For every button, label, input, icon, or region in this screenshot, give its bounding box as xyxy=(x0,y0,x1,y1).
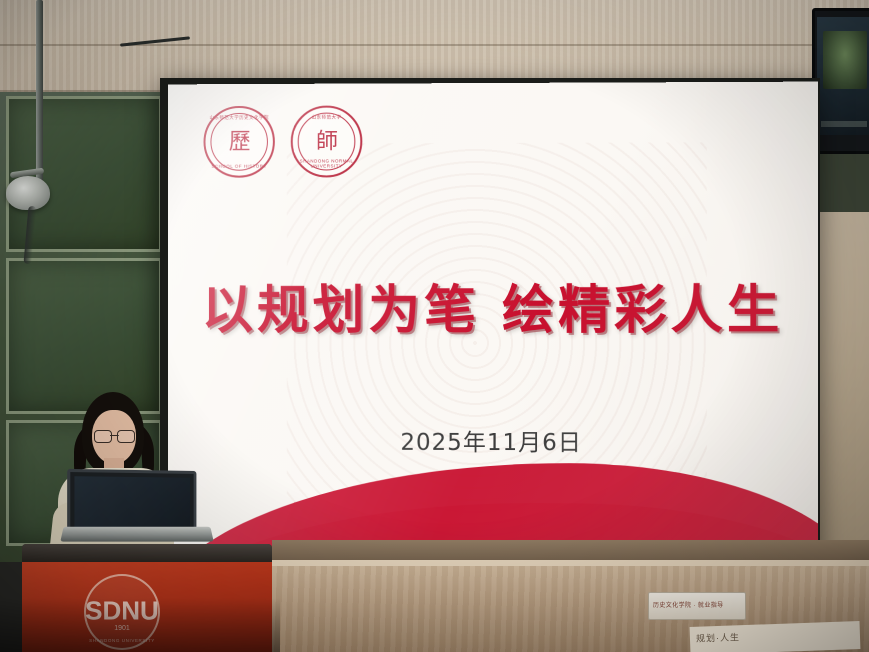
presenter-laptop[interactable] xyxy=(62,470,220,550)
desk-name-plate-text: 历史文化学院 · 就业指导 xyxy=(653,600,724,609)
desk-paper: 规划·人生 xyxy=(690,621,861,652)
history-emblem-core: 歷 xyxy=(229,131,250,153)
university-emblem-icon: 山东师范大学 師 SHANDONG NORMAL UNIVERSITY xyxy=(291,106,363,178)
wall-monitor[interactable] xyxy=(812,8,869,154)
history-emblem-ring-bottom: SCHOOL OF HISTORY xyxy=(205,164,272,169)
slide-emblem-group: 山东师范大学历史文化学院 歷 SCHOOL OF HISTORY 山东师范大学 … xyxy=(204,106,363,178)
desk-front-edge xyxy=(272,560,869,566)
glasses-icon xyxy=(94,430,135,441)
history-school-emblem-icon: 山东师范大学历史文化学院 歷 SCHOOL OF HISTORY xyxy=(204,106,275,178)
desk-name-plate: 历史文化学院 · 就业指导 xyxy=(648,592,746,620)
ceiling-projector-icon xyxy=(6,176,50,210)
glasses-left-lens xyxy=(94,430,112,443)
university-emblem-ring-top: 山东师范大学 xyxy=(293,114,361,120)
podium-top-surface xyxy=(22,544,272,562)
blackboard-middle xyxy=(6,258,162,414)
floor-shadow xyxy=(0,598,280,652)
laptop-lid xyxy=(67,469,196,535)
wall-monitor-image xyxy=(823,31,867,89)
slide-date: 2025年11月6日 xyxy=(168,422,818,457)
desk-paper-text: 规划·人生 xyxy=(696,630,740,645)
history-emblem-ring-top: 山东师范大学历史文化学院 xyxy=(205,115,272,121)
university-emblem-core: 師 xyxy=(316,131,337,153)
projector-mount-rail xyxy=(36,0,43,196)
laptop-screen[interactable] xyxy=(74,476,190,528)
university-emblem-ring-bottom: SHANDONG NORMAL UNIVERSITY xyxy=(293,158,361,168)
glasses-right-lens xyxy=(117,430,135,443)
lecture-hall-photo: 山东师范大学历史文化学院 歷 SCHOOL OF HISTORY 山东师范大学 … xyxy=(0,0,869,652)
projection-screen[interactable]: 山东师范大学历史文化学院 歷 SCHOOL OF HISTORY 山东师范大学 … xyxy=(168,82,818,575)
slide-title: 以规划为笔 绘精彩人生 xyxy=(168,268,818,343)
laptop-keyboard-base[interactable] xyxy=(60,527,213,542)
wall-monitor-screen xyxy=(817,17,869,135)
wall-monitor-caption-bar xyxy=(821,121,867,127)
